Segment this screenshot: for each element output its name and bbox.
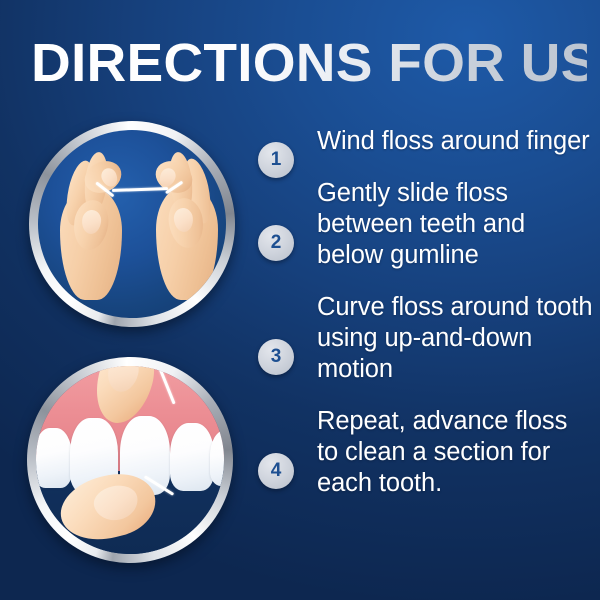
illustration-2-canvas [36,366,224,554]
step-number-badge-2: 2 [258,225,294,261]
illustration-hands-winding-floss [29,121,235,327]
step-number-badge-3: 3 [258,339,294,375]
tooth [170,423,214,491]
illustration-1-canvas [38,130,226,318]
floss-strand [112,187,168,192]
step-number-badge-1: 1 [258,142,294,178]
tooth [36,428,72,488]
step-number-badge-4: 4 [258,453,294,489]
page-title: DIRECTIONS FOR USE [31,30,587,96]
steps-list: 1 Wind floss around finger 2 Gently slid… [258,126,594,520]
directions-for-use-panel: DIRECTIONS FOR USE [0,0,600,600]
step-item-4: 4 Repeat, advance floss to clean a secti… [258,406,594,499]
step-text-3: Curve floss around tooth using up-and-do… [317,292,594,385]
step-item-1: 1 Wind floss around finger [258,126,594,157]
step-text-2: Gently slide floss between teeth and bel… [317,178,594,271]
step-text-4: Repeat, advance floss to clean a section… [317,406,594,499]
step-text-1: Wind floss around finger [317,126,594,157]
step-item-2: 2 Gently slide floss between teeth and b… [258,178,594,271]
step-item-3: 3 Curve floss around tooth using up-and-… [258,292,594,385]
illustration-flossing-between-teeth [27,357,233,563]
